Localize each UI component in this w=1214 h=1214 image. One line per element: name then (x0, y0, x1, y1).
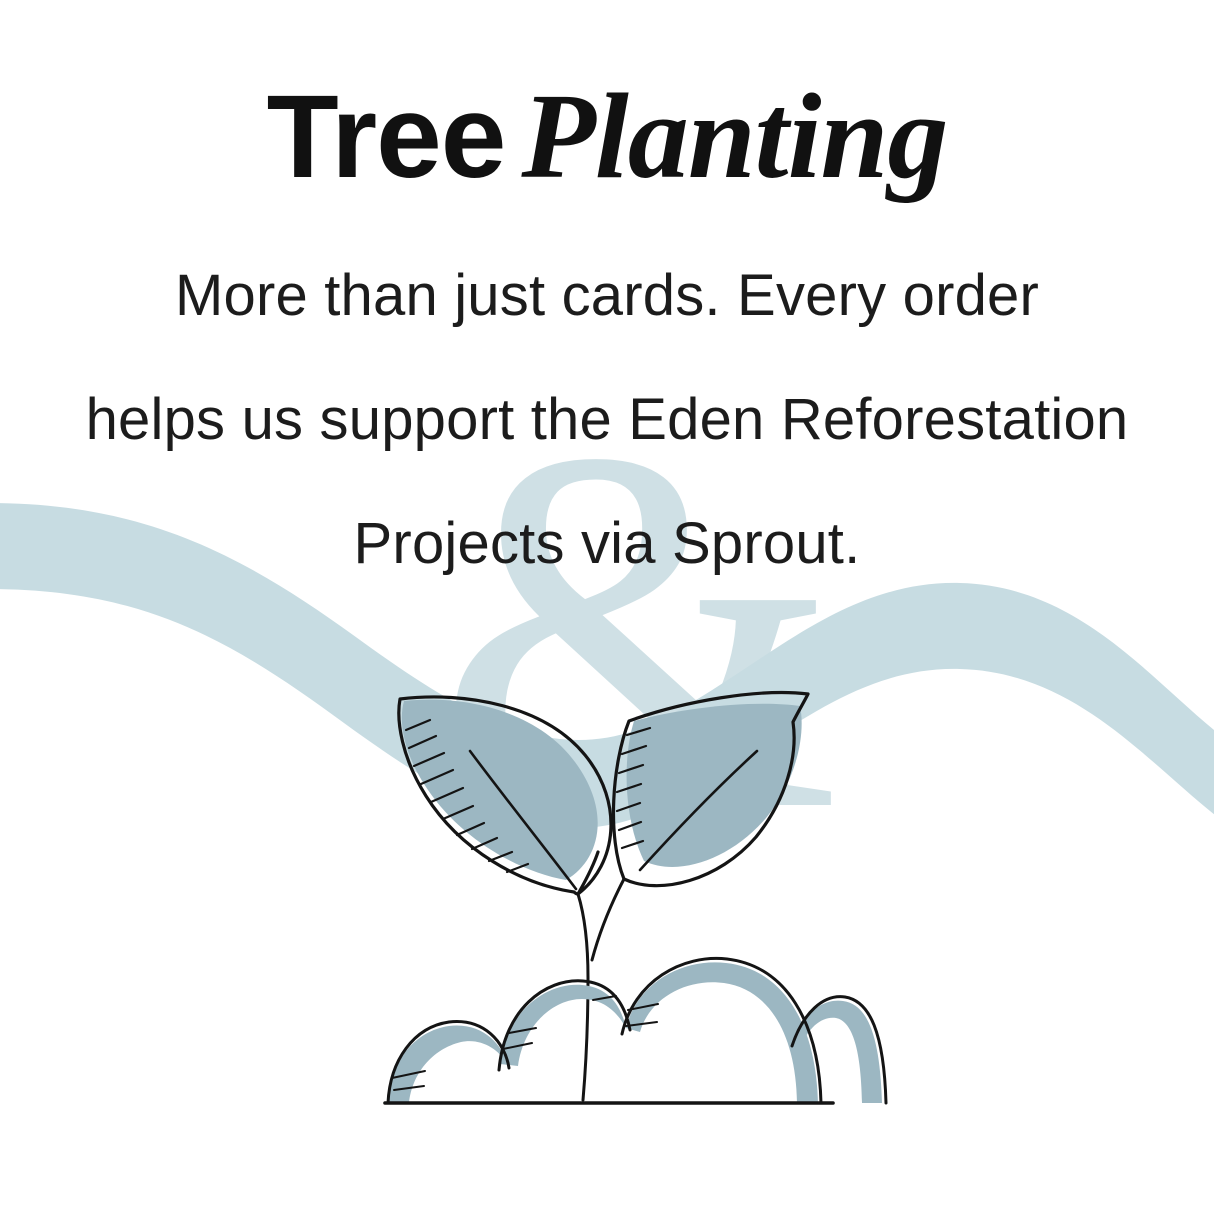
body-copy-line-3: Projects via Sprout. (0, 482, 1214, 606)
soil-texture-marks (392, 996, 658, 1090)
text-block: TreePlanting More than just cards. Every… (0, 0, 1214, 606)
leaf-left-hatch (406, 720, 528, 872)
page-title-accent: Planting (521, 69, 947, 204)
body-copy-line-2: helps us support the Eden Reforestation (0, 358, 1214, 482)
plant-stem (578, 879, 624, 1100)
tree-planting-promo-card: & (0, 0, 1214, 1214)
leaf-right (613, 693, 808, 886)
leaf-left (399, 697, 611, 894)
body-copy-line-1: More than just cards. Every order (0, 234, 1214, 358)
soil-mound (388, 958, 886, 1103)
page-title-primary: Tree (267, 71, 506, 203)
leaf-right-hatch (617, 728, 650, 848)
page-title: TreePlanting (0, 0, 1214, 198)
body-copy: More than just cards. Every order helps … (0, 198, 1214, 606)
